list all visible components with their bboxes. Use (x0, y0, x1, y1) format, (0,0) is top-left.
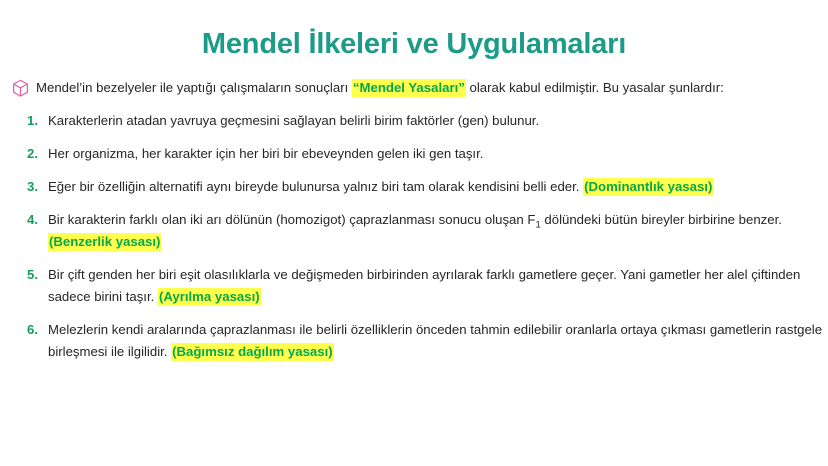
intro-text-before: Mendel’in bezelyeler ile yaptığı çalışma… (36, 80, 352, 95)
list-item-number: 6. (12, 319, 38, 341)
mendel-laws-list: 1. Karakterlerin atadan yavruya geçmesin… (12, 110, 826, 363)
list-item-number: 4. (12, 209, 38, 231)
list-item-text: Bir çift genden her biri eşit olasılıkla… (48, 264, 826, 308)
list-item-number: 1. (12, 110, 38, 132)
list-item: 1. Karakterlerin atadan yavruya geçmesin… (12, 110, 826, 132)
list-item-body: Melezlerin kendi aralarında çaprazlanmas… (48, 322, 822, 359)
law-name-highlight: (Benzerlik yasası) (48, 233, 161, 251)
list-item: 6. Melezlerin kendi aralarında çaprazlan… (12, 319, 826, 363)
intro-highlight: “Mendel Yasaları” (352, 79, 466, 97)
intro-text: Mendel’in bezelyeler ile yaptığı çalışma… (36, 78, 824, 97)
list-item-number: 3. (12, 176, 38, 198)
list-item-text: Melezlerin kendi aralarında çaprazlanmas… (48, 319, 826, 363)
law-name-highlight: (Bağımsız dağılım yasası) (171, 343, 334, 361)
list-item-text: Her organizma, her karakter için her bir… (48, 143, 826, 165)
law-name-highlight: (Ayrılma yasası) (158, 288, 261, 306)
list-item: 3. Eğer bir özelliğin alternatifi aynı b… (12, 176, 826, 198)
page-title: Mendel İlkeleri ve Uygulamaları (0, 26, 828, 62)
list-item: 4. Bir karakterin farklı olan iki arı dö… (12, 209, 826, 253)
list-item-body-post: dölündeki bütün bireyler birbirine benze… (541, 212, 782, 227)
list-item-text: Eğer bir özelliğin alternatifi aynı bire… (48, 176, 826, 198)
f1-generation-label: F1 (527, 212, 540, 227)
list-item: 5. Bir çift genden her biri eşit olasılı… (12, 264, 826, 308)
intro-text-after: olarak kabul edilmiştir. Bu yasalar şunl… (466, 80, 724, 95)
law-name-highlight: (Dominantlık yasası) (583, 178, 713, 196)
list-item-text: Bir karakterin farklı olan iki arı dölün… (48, 209, 826, 253)
list-item-body-pre: Bir karakterin farklı olan iki arı dölün… (48, 212, 527, 227)
list-item: 2. Her organizma, her karakter için her … (12, 143, 826, 165)
list-item-body: Karakterlerin atadan yavruya geçmesini s… (48, 113, 539, 128)
cube-icon (12, 79, 29, 98)
document-page: Mendel İlkeleri ve Uygulamaları Mendel’i… (0, 0, 828, 466)
list-item-text: Karakterlerin atadan yavruya geçmesini s… (48, 110, 826, 132)
list-item-number: 5. (12, 264, 38, 286)
list-item-number: 2. (12, 143, 38, 165)
intro-paragraph-row: Mendel’in bezelyeler ile yaptığı çalışma… (12, 78, 824, 98)
list-item-body: Eğer bir özelliğin alternatifi aynı bire… (48, 179, 583, 194)
list-item-body: Her organizma, her karakter için her bir… (48, 146, 483, 161)
